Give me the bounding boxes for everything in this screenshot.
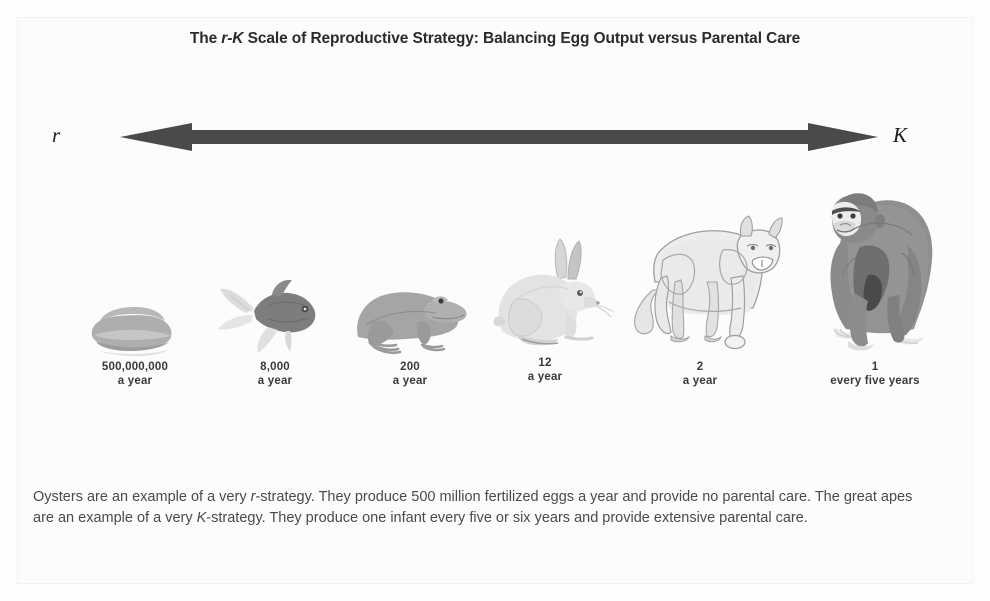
title-suffix: Scale of Reproductive Strategy: Balancin…	[243, 30, 800, 47]
page-title: The r-K Scale of Reproductive Strategy: …	[0, 30, 990, 48]
gorilla-illustration	[790, 175, 960, 360]
quantity-value: 1	[790, 360, 960, 374]
quantity-value: 12	[480, 356, 610, 370]
animal-fish	[210, 265, 340, 360]
quantity-value: 200	[345, 360, 475, 374]
animal-frog	[340, 275, 480, 360]
quantity-label-gorilla: 1 every five years	[790, 360, 960, 388]
rk-scale-figure: The r-K Scale of Reproductive Strategy: …	[0, 0, 990, 601]
animal-row	[30, 175, 960, 360]
quantity-value: 2	[635, 360, 765, 374]
quantity-label-frog: 200 a year	[345, 360, 475, 388]
quantity-label-rabbit: 12 a year	[480, 356, 610, 384]
rk-axis-arrow	[60, 108, 940, 170]
quantity-period: a year	[635, 374, 765, 388]
animal-gorilla	[790, 175, 960, 360]
figure-caption: Oysters are an example of a very r-strat…	[33, 487, 933, 529]
animal-cougar	[625, 190, 790, 360]
title-prefix: The	[190, 30, 221, 47]
axis-label-r: r	[52, 123, 60, 148]
frog-illustration	[340, 275, 480, 360]
quantity-label-fish: 8,000 a year	[210, 360, 340, 388]
cougar-illustration	[625, 190, 790, 360]
quantity-value: 8,000	[210, 360, 340, 374]
title-emphasis: r-K	[221, 30, 243, 47]
fish-illustration	[210, 265, 340, 360]
quantity-period: a year	[60, 374, 210, 388]
rabbit-illustration	[480, 235, 620, 360]
quantity-label-oyster: 500,000,000 a year	[60, 360, 210, 388]
quantity-value: 500,000,000	[60, 360, 210, 374]
quantity-period: a year	[210, 374, 340, 388]
axis-label-k: K	[893, 123, 907, 148]
animal-oyster	[70, 290, 200, 360]
oyster-illustration	[70, 290, 200, 360]
caption-part-3: -strategy. They produce one infant every…	[206, 510, 808, 526]
caption-part-1: Oysters are an example of a very	[33, 489, 251, 505]
quantity-period: a year	[480, 370, 610, 384]
quantity-period: a year	[345, 374, 475, 388]
animal-rabbit	[480, 235, 620, 360]
quantity-period: every five years	[790, 374, 960, 388]
caption-emphasis-k: K	[197, 510, 207, 526]
quantity-label-cougar: 2 a year	[635, 360, 765, 388]
quantity-label-row: 500,000,000 a year 8,000 a year 200 a ye…	[30, 360, 960, 410]
